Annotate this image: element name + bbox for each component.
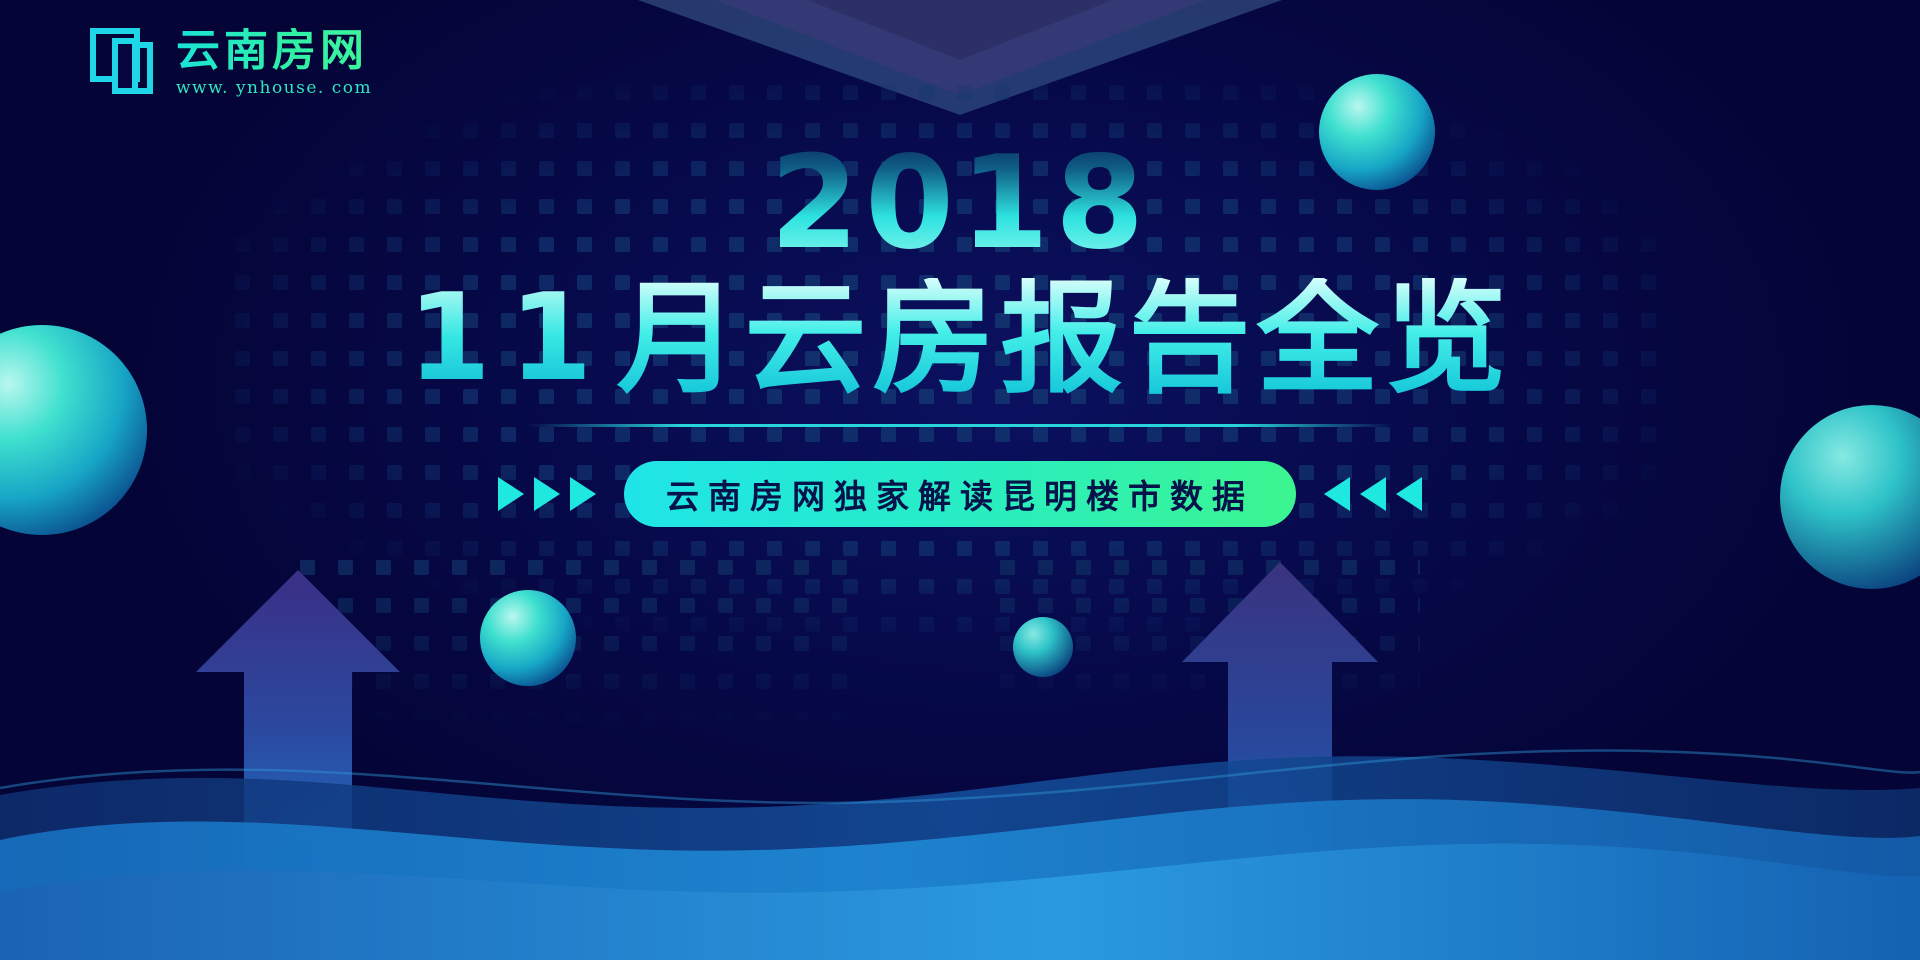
divider (527, 424, 1393, 427)
bottom-decoration (0, 540, 1920, 960)
month-number: 11 (408, 279, 611, 399)
brand-url: www. ynhouse. com (176, 78, 372, 98)
title-row: 11 月云房报告全览 (408, 278, 1513, 400)
ynhouse-building-logo-icon (90, 28, 160, 94)
headline-block: 2018 11 月云房报告全览 云南房网独家解读昆明楼市数据 (0, 140, 1920, 527)
year-text: 2018 (770, 140, 1150, 268)
subtitle-row: 云南房网独家解读昆明楼市数据 (498, 461, 1422, 527)
subtitle-pill[interactable]: 云南房网独家解读昆明楼市数据 (624, 461, 1296, 527)
brand-name: 云南房网 (176, 28, 372, 74)
triangle-right-icon-group (498, 477, 596, 511)
marketing-banner: 云南房网 www. ynhouse. com 2018 11 月云房报告全览 云… (0, 0, 1920, 960)
brand-logo[interactable]: 云南房网 www. ynhouse. com (90, 28, 372, 98)
triangle-left-icon-group (1324, 477, 1422, 511)
page-title: 月云房报告全览 (617, 278, 1513, 400)
